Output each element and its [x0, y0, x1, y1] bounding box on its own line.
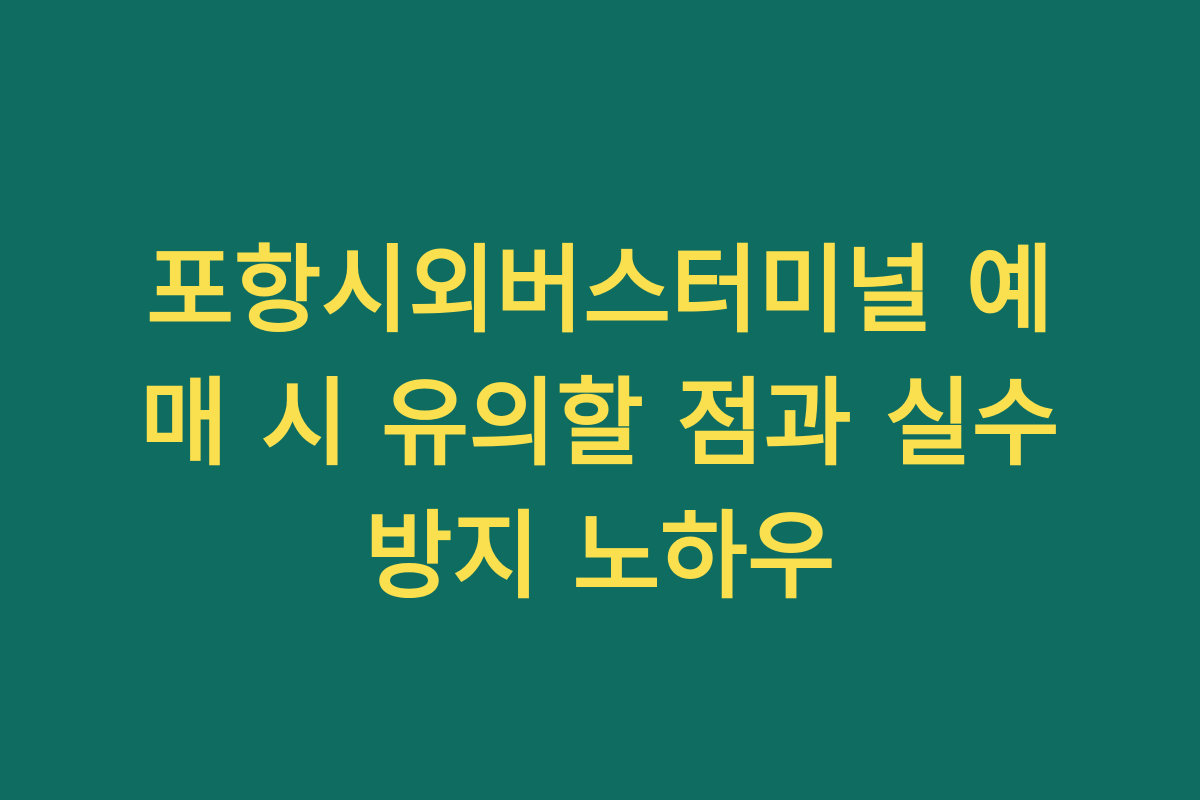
title-card: 포항시외버스터미널 예 매 시 유의할 점과 실수 방지 노하우 — [0, 0, 1200, 800]
title-line-1: 포항시외버스터미널 예 — [100, 225, 1100, 358]
title-line-2: 매 시 유의할 점과 실수 — [100, 358, 1100, 491]
title-line-3: 방지 노하우 — [100, 491, 1100, 624]
page-title: 포항시외버스터미널 예 매 시 유의할 점과 실수 방지 노하우 — [100, 225, 1100, 624]
